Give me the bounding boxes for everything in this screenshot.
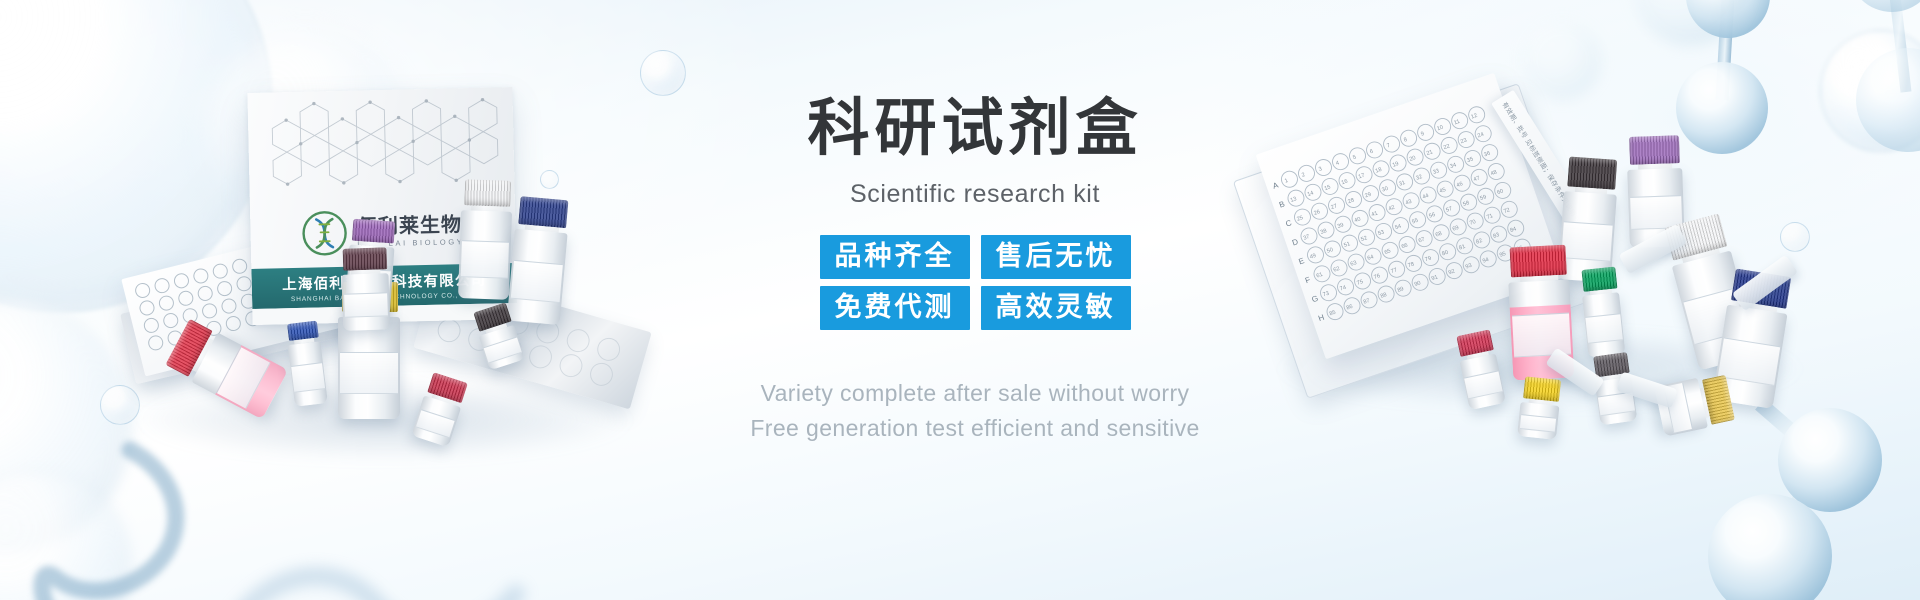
feature-badge-aftersale[interactable]: 售后无忧 — [981, 235, 1131, 279]
feature-badge-sensitive[interactable]: 高效灵敏 — [981, 286, 1131, 330]
vial-label — [1561, 221, 1612, 261]
svg-text:78: 78 — [1407, 261, 1415, 269]
molecule-bottom-center — [230, 520, 530, 600]
svg-text:72: 72 — [1503, 207, 1511, 215]
svg-text:90: 90 — [1414, 280, 1422, 288]
svg-text:93: 93 — [1465, 263, 1473, 271]
svg-text:64: 64 — [1367, 254, 1375, 262]
vial-label — [1464, 370, 1502, 399]
svg-text:40: 40 — [1354, 216, 1362, 224]
svg-text:22: 22 — [1443, 143, 1451, 151]
vial-darkplum-cap-left — [341, 247, 392, 333]
svg-text:68: 68 — [1435, 231, 1443, 239]
svg-text:47: 47 — [1473, 175, 1481, 183]
svg-text:29: 29 — [1364, 192, 1372, 200]
svg-text:80: 80 — [1441, 250, 1449, 258]
bubble-large-bottomleft — [0, 470, 132, 600]
svg-text:60: 60 — [1496, 188, 1504, 196]
svg-text:34: 34 — [1449, 162, 1457, 170]
vial-label — [1598, 392, 1634, 416]
svg-text:36: 36 — [1483, 151, 1491, 159]
feature-badge-variety[interactable]: 品种齐全 — [820, 235, 970, 279]
svg-text:19: 19 — [1392, 161, 1400, 169]
vial-cap — [518, 196, 568, 228]
svg-text:71: 71 — [1486, 213, 1494, 221]
vial-body — [1582, 292, 1625, 358]
svg-text:69: 69 — [1452, 225, 1460, 233]
svg-text:84: 84 — [1509, 226, 1517, 234]
svg-text:89: 89 — [1397, 286, 1405, 294]
svg-text:11: 11 — [1453, 119, 1460, 127]
svg-text:86: 86 — [1346, 304, 1354, 312]
svg-text:41: 41 — [1371, 211, 1379, 219]
svg-text:81: 81 — [1458, 244, 1466, 252]
svg-text:76: 76 — [1373, 273, 1381, 281]
svg-text:1: 1 — [1284, 178, 1289, 185]
vial-navy-cap-left — [507, 196, 572, 328]
svg-text:94: 94 — [1482, 257, 1490, 265]
vial-cap — [1629, 135, 1680, 165]
svg-text:37: 37 — [1303, 234, 1311, 242]
product-photo-left: 佰利莱生物 BAILILAI BIOLOGY 上海佰利莱生物科技有限公司 SHA… — [120, 90, 650, 460]
svg-text:51: 51 — [1343, 241, 1351, 249]
svg-text:H: H — [1317, 313, 1326, 323]
svg-text:D: D — [1291, 237, 1300, 247]
svg-text:42: 42 — [1388, 205, 1396, 213]
svg-text:7: 7 — [1386, 143, 1391, 150]
svg-text:45: 45 — [1439, 187, 1447, 195]
svg-text:24: 24 — [1477, 132, 1485, 140]
svg-text:E: E — [1298, 256, 1306, 266]
vial-body — [458, 210, 512, 300]
svg-text:43: 43 — [1405, 199, 1413, 207]
svg-text:62: 62 — [1333, 266, 1341, 274]
svg-text:12: 12 — [1470, 113, 1478, 121]
svg-text:54: 54 — [1394, 224, 1402, 232]
svg-text:16: 16 — [1341, 179, 1349, 187]
svg-text:73: 73 — [1322, 291, 1330, 299]
vial-label — [291, 362, 324, 392]
svg-text:46: 46 — [1456, 181, 1464, 189]
svg-text:21: 21 — [1426, 149, 1434, 157]
svg-text:2: 2 — [1301, 172, 1306, 179]
vial-cap — [1581, 266, 1617, 291]
vial-label — [1586, 313, 1623, 343]
svg-text:48: 48 — [1490, 170, 1498, 178]
svg-text:35: 35 — [1466, 156, 1474, 164]
vial-body — [288, 341, 328, 407]
vial-yellow-cap-right — [1517, 376, 1563, 442]
feature-badge-group: 品种齐全 售后无忧 免费代测 高效灵敏 — [820, 235, 1131, 330]
vial-cap — [1567, 156, 1617, 189]
svg-text:92: 92 — [1448, 269, 1456, 277]
svg-text:32: 32 — [1415, 174, 1423, 182]
vial-cap — [1509, 245, 1566, 278]
svg-text:55: 55 — [1411, 218, 1419, 226]
svg-text:63: 63 — [1350, 260, 1358, 268]
svg-text:85: 85 — [1329, 310, 1337, 318]
svg-text:88: 88 — [1380, 292, 1388, 300]
vial-label — [344, 292, 388, 318]
tagline-line-2: Free generation test efficient and sensi… — [750, 411, 1199, 446]
svg-text:26: 26 — [1313, 209, 1321, 217]
svg-text:17: 17 — [1358, 173, 1366, 181]
product-photo-right: ABCD EFGH — [1270, 100, 1870, 420]
bubble-medium-topleft — [0, 300, 132, 552]
svg-text:66: 66 — [1401, 243, 1409, 251]
svg-text:87: 87 — [1363, 298, 1371, 306]
svg-text:14: 14 — [1307, 190, 1315, 198]
svg-text:39: 39 — [1337, 222, 1345, 230]
svg-text:67: 67 — [1418, 237, 1426, 245]
svg-text:70: 70 — [1469, 219, 1477, 227]
svg-text:10: 10 — [1436, 125, 1444, 133]
vial-cap — [343, 247, 388, 271]
promo-banner: 佰利莱生物 BAILILAI BIOLOGY 上海佰利莱生物科技有限公司 SHA… — [0, 0, 1920, 600]
svg-text:23: 23 — [1460, 138, 1468, 146]
svg-text:28: 28 — [1347, 198, 1355, 206]
vial-label — [511, 260, 563, 303]
svg-text:6: 6 — [1369, 149, 1374, 156]
svg-text:83: 83 — [1492, 232, 1500, 240]
svg-text:38: 38 — [1320, 228, 1328, 236]
vial-body — [507, 229, 568, 325]
svg-text:44: 44 — [1422, 193, 1430, 201]
svg-text:50: 50 — [1326, 247, 1334, 255]
svg-text:25: 25 — [1296, 215, 1304, 223]
vial-cap — [287, 320, 319, 341]
vial-label — [340, 352, 397, 395]
svg-text:95: 95 — [1499, 251, 1507, 259]
svg-text:59: 59 — [1479, 194, 1487, 202]
svg-text:31: 31 — [1398, 180, 1406, 188]
vial-white-cap-left — [458, 179, 514, 303]
svg-text:57: 57 — [1445, 206, 1453, 214]
svg-text:5: 5 — [1352, 155, 1357, 162]
svg-text:53: 53 — [1377, 229, 1385, 237]
svg-text:9: 9 — [1420, 131, 1425, 138]
vial-label — [461, 240, 509, 279]
vial-body — [341, 273, 390, 331]
banner-subtitle: Scientific research kit — [850, 180, 1100, 209]
svg-text:74: 74 — [1339, 285, 1347, 293]
svg-text:4: 4 — [1335, 160, 1340, 167]
svg-text:79: 79 — [1424, 256, 1432, 264]
vial-label — [1519, 414, 1556, 433]
svg-text:58: 58 — [1462, 200, 1470, 208]
svg-text:33: 33 — [1432, 168, 1440, 176]
vial-cap — [352, 219, 395, 244]
svg-text:8: 8 — [1403, 137, 1408, 144]
svg-text:49: 49 — [1309, 253, 1317, 261]
svg-text:A: A — [1271, 180, 1280, 190]
svg-text:27: 27 — [1330, 203, 1338, 211]
svg-text:61: 61 — [1316, 272, 1324, 280]
svg-text:91: 91 — [1431, 274, 1439, 282]
banner-title: 科研试剂盒 — [807, 96, 1142, 162]
banner-tagline: Variety complete after sale without worr… — [750, 376, 1199, 445]
vial-label — [484, 337, 521, 363]
svg-text:G: G — [1311, 294, 1320, 305]
svg-text:30: 30 — [1381, 186, 1389, 194]
feature-badge-free-test[interactable]: 免费代测 — [820, 286, 970, 330]
vial-cap — [464, 179, 511, 207]
vial-label — [1718, 337, 1780, 386]
svg-text:52: 52 — [1360, 235, 1368, 243]
svg-text:75: 75 — [1356, 279, 1364, 287]
svg-text:20: 20 — [1409, 155, 1417, 163]
svg-text:B: B — [1278, 199, 1286, 209]
vial-label — [415, 409, 455, 438]
svg-text:3: 3 — [1318, 166, 1323, 173]
banner-text-block: 科研试剂盒 Scientific research kit 品种齐全 售后无忧 … — [760, 96, 1190, 445]
svg-text:13: 13 — [1290, 196, 1298, 204]
svg-text:56: 56 — [1428, 212, 1436, 220]
svg-text:65: 65 — [1384, 248, 1392, 256]
svg-text:F: F — [1304, 275, 1312, 285]
vial-green-cap-right — [1579, 266, 1626, 359]
svg-text:18: 18 — [1375, 167, 1383, 175]
vial-body — [1517, 402, 1559, 440]
tagline-line-1: Variety complete after sale without worr… — [750, 376, 1199, 411]
svg-text:82: 82 — [1475, 238, 1483, 246]
svg-text:C: C — [1284, 218, 1293, 228]
svg-text:77: 77 — [1390, 267, 1398, 275]
svg-text:15: 15 — [1324, 184, 1332, 192]
